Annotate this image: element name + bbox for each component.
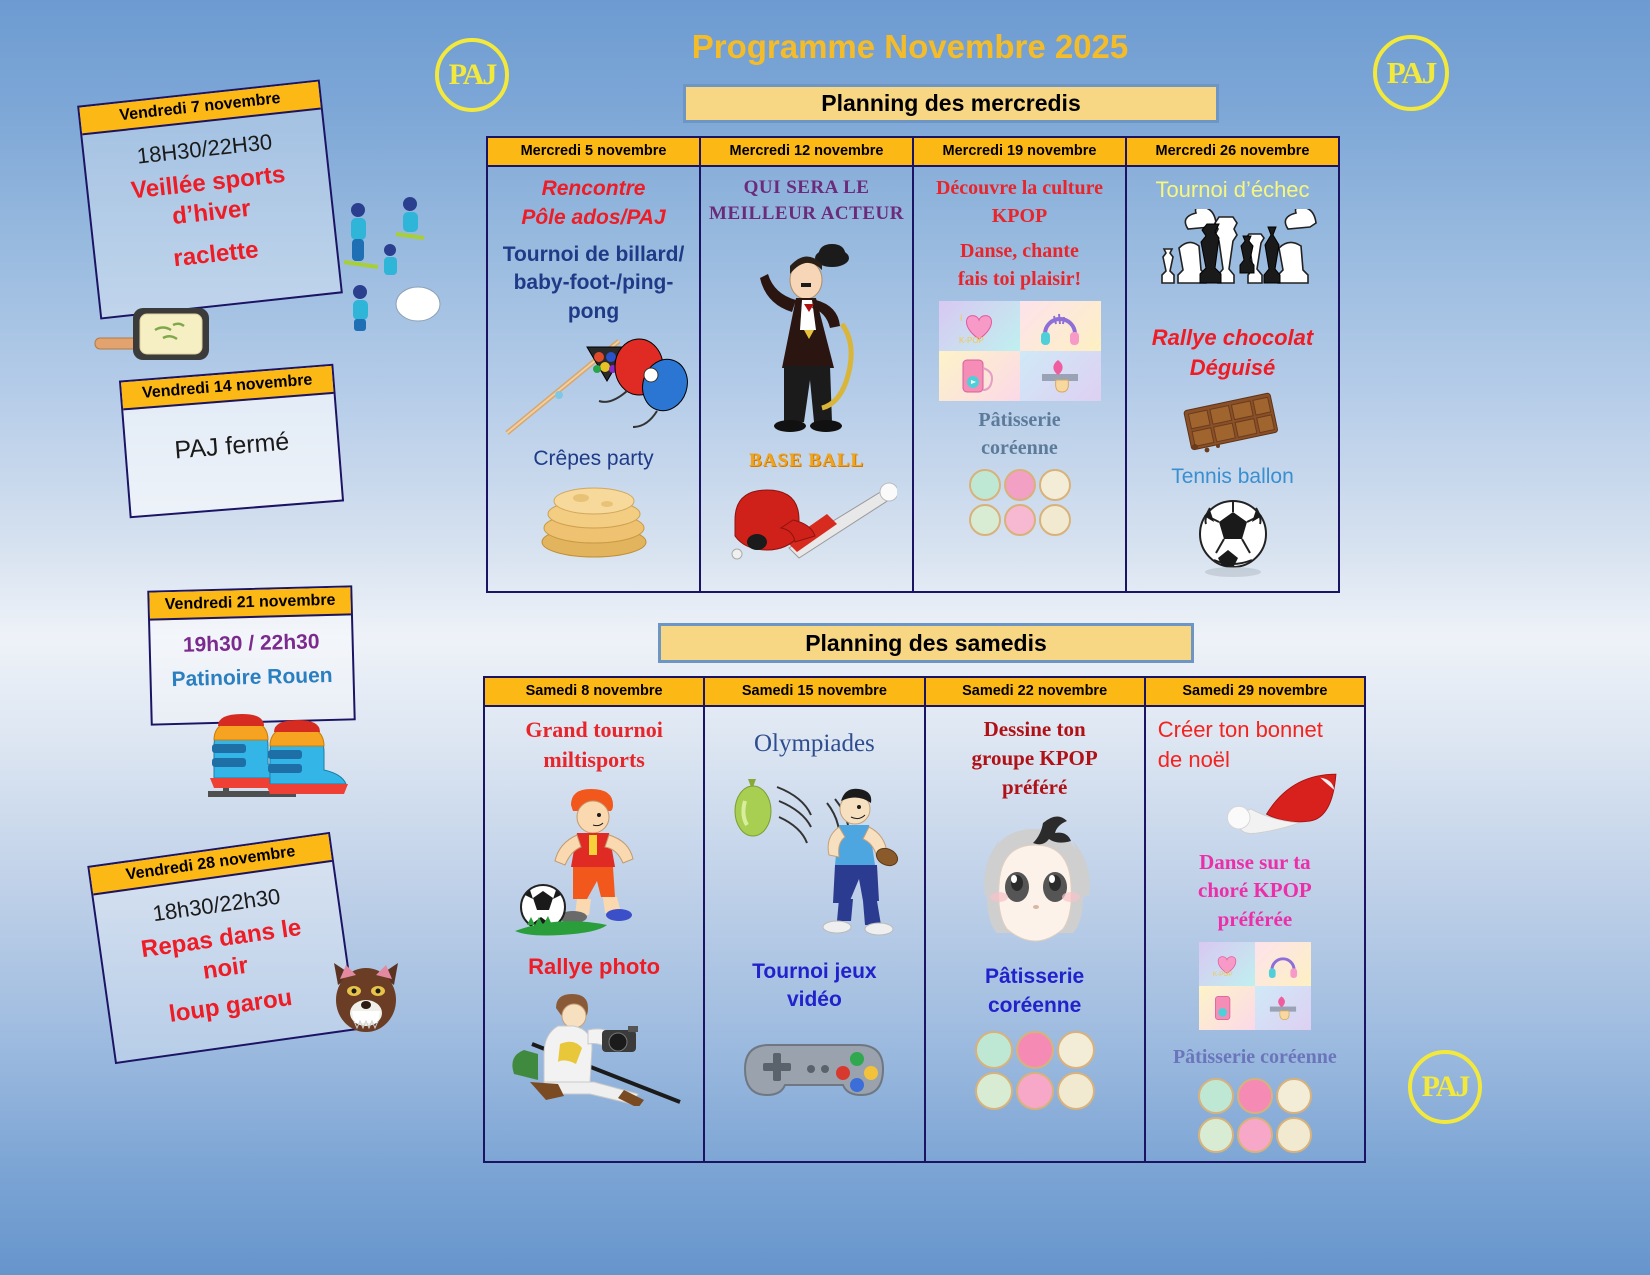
santa-hat-icon [1208,769,1358,844]
activity-label: Danse sur ta [1152,850,1358,875]
soccer-ball-icon [1188,496,1278,581]
activity-label: Découvre la culture [920,177,1119,201]
chocolate-bar-icon [1173,389,1293,455]
activity-label: KPOP [920,205,1119,229]
column-header: Samedi 8 novembre [485,678,703,707]
wednesday-column-26[interactable]: Mercredi 26 novembre Tournoi d’échec [1127,138,1338,591]
paj-logo-top-left: PAJ [435,38,509,112]
saturday-column-29[interactable]: Samedi 29 novembre Créer ton bonnet de n… [1146,678,1364,1161]
wednesday-column-5[interactable]: Mercredi 5 novembre Rencontre Pôle ados/… [488,138,701,591]
activity-label: Pâtisserie coréenne [1152,1046,1358,1070]
column-header: Samedi 29 novembre [1146,678,1364,707]
column-header: Mercredi 12 novembre [701,138,912,167]
activity-label: préférée [1152,907,1358,932]
activity-label: pong [494,300,693,325]
activity-label: Grand tournoi [491,717,697,743]
activity-label: Rallye photo [491,954,697,980]
activity-label: Pâtisserie [920,409,1119,433]
event-card-line: PAJ fermé [132,424,333,469]
section-banner-saturdays: Planning des samedis [658,623,1194,663]
activity-label: Déguisé [1133,355,1332,381]
water-balloon-icon [727,769,902,954]
baseball-helmet-bat-icon [717,480,897,570]
svg-text:K-POP: K-POP [1213,971,1233,978]
game-controller-icon [739,1027,889,1112]
paj-logo-text: PAJ [1387,55,1436,91]
activity-label: Rencontre [494,177,693,202]
event-card-vendredi-28[interactable]: Vendredi 28 novembre 18h30/22h30 Repas d… [87,832,357,1064]
chess-pieces-icon [1148,209,1318,287]
korean-donuts-icon [960,469,1080,536]
charlie-chaplin-icon [744,238,869,438]
activity-label: Rallye chocolat [1133,325,1332,351]
activity-label: Pâtisserie [932,965,1138,990]
event-card-line: Patinoire Rouen [157,664,347,693]
column-header: Mercredi 19 novembre [914,138,1125,167]
column-header: Mercredi 26 novembre [1127,138,1338,167]
activity-label: fais toi plaisir! [920,268,1119,292]
paj-logo-text: PAJ [449,58,496,92]
saturday-column-22[interactable]: Samedi 22 novembre Dessine ton groupe KP… [926,678,1146,1161]
saturday-column-15[interactable]: Samedi 15 novembre Olympiades [705,678,925,1161]
activity-label: Tournoi de billard/ [494,243,693,268]
activity-label: Tournoi jeux [711,960,917,985]
page-title: Programme Novembre 2025 [590,28,1230,66]
paj-logo-bottom-right: PAJ [1408,1050,1482,1124]
kpop-collage-icon: IK-POP [939,301,1101,401]
activity-label: Olympiades [711,729,917,759]
activity-label: QUI SERA LE [707,177,906,199]
activity-label: Tennis ballon [1133,465,1332,490]
column-header: Samedi 22 novembre [926,678,1144,707]
activity-label: Crêpes party [494,447,693,472]
wednesday-planning-table: Mercredi 5 novembre Rencontre Pôle ados/… [486,136,1340,593]
activity-label: vidéo [711,988,917,1013]
activity-label: coréenne [932,994,1138,1019]
svg-text:I: I [960,313,963,323]
manga-girl-icon [955,811,1115,951]
activity-label: coréenne [920,437,1119,461]
activity-label: choré KPOP [1152,878,1358,903]
svg-text:K-POP: K-POP [959,336,984,345]
billiard-pingpong-icon [499,333,689,443]
saturday-planning-table: Samedi 8 novembre Grand tournoi miltispo… [483,676,1366,1163]
photographer-icon [502,986,687,1106]
activity-label: Créer ton bonnet [1152,717,1364,743]
activity-label: Tournoi d’échec [1133,177,1332,203]
korean-donuts-icon [970,1031,1100,1110]
activity-label: Danse, chante [920,240,1119,264]
activity-label: MEILLEUR ACTEUR [707,203,906,225]
soccer-boy-icon [507,783,682,938]
crepes-stack-icon [529,476,659,561]
section-banner-wednesdays: Planning des mercredis [683,84,1219,123]
paj-logo-text: PAJ [1422,1070,1469,1104]
activity-label: Dessine ton [932,717,1138,742]
activity-label: préféré [932,775,1138,800]
paj-logo-top-right: PAJ [1373,35,1449,111]
saturday-column-8[interactable]: Samedi 8 novembre Grand tournoi miltispo… [485,678,705,1161]
korean-donuts-icon [1190,1078,1320,1153]
activity-label: Pôle ados/PAJ [494,206,693,231]
column-header: Samedi 15 novembre [705,678,923,707]
column-header: Mercredi 5 novembre [488,138,699,167]
event-card-time: 19h30 / 22h30 [156,630,346,659]
wednesday-column-12[interactable]: Mercredi 12 novembre QUI SERA LE MEILLEU… [701,138,914,591]
event-card-vendredi-7[interactable]: Vendredi 7 novembre 18H30/22H30 Veillée … [77,79,343,319]
activity-label: BASE BALL [707,450,906,472]
activity-label: baby-foot-/ping- [494,271,693,296]
kpop-collage-icon: K-POP [1199,942,1311,1031]
event-card-vendredi-21[interactable]: Vendredi 21 novembre 19h30 / 22h30 Patin… [147,585,355,725]
wednesday-column-19[interactable]: Mercredi 19 novembre Découvre la culture… [914,138,1127,591]
activity-label: groupe KPOP [932,746,1138,771]
activity-label: miltisports [491,747,697,773]
event-card-vendredi-14[interactable]: Vendredi 14 novembre PAJ fermé [119,364,344,518]
winter-sports-icon [330,192,445,332]
